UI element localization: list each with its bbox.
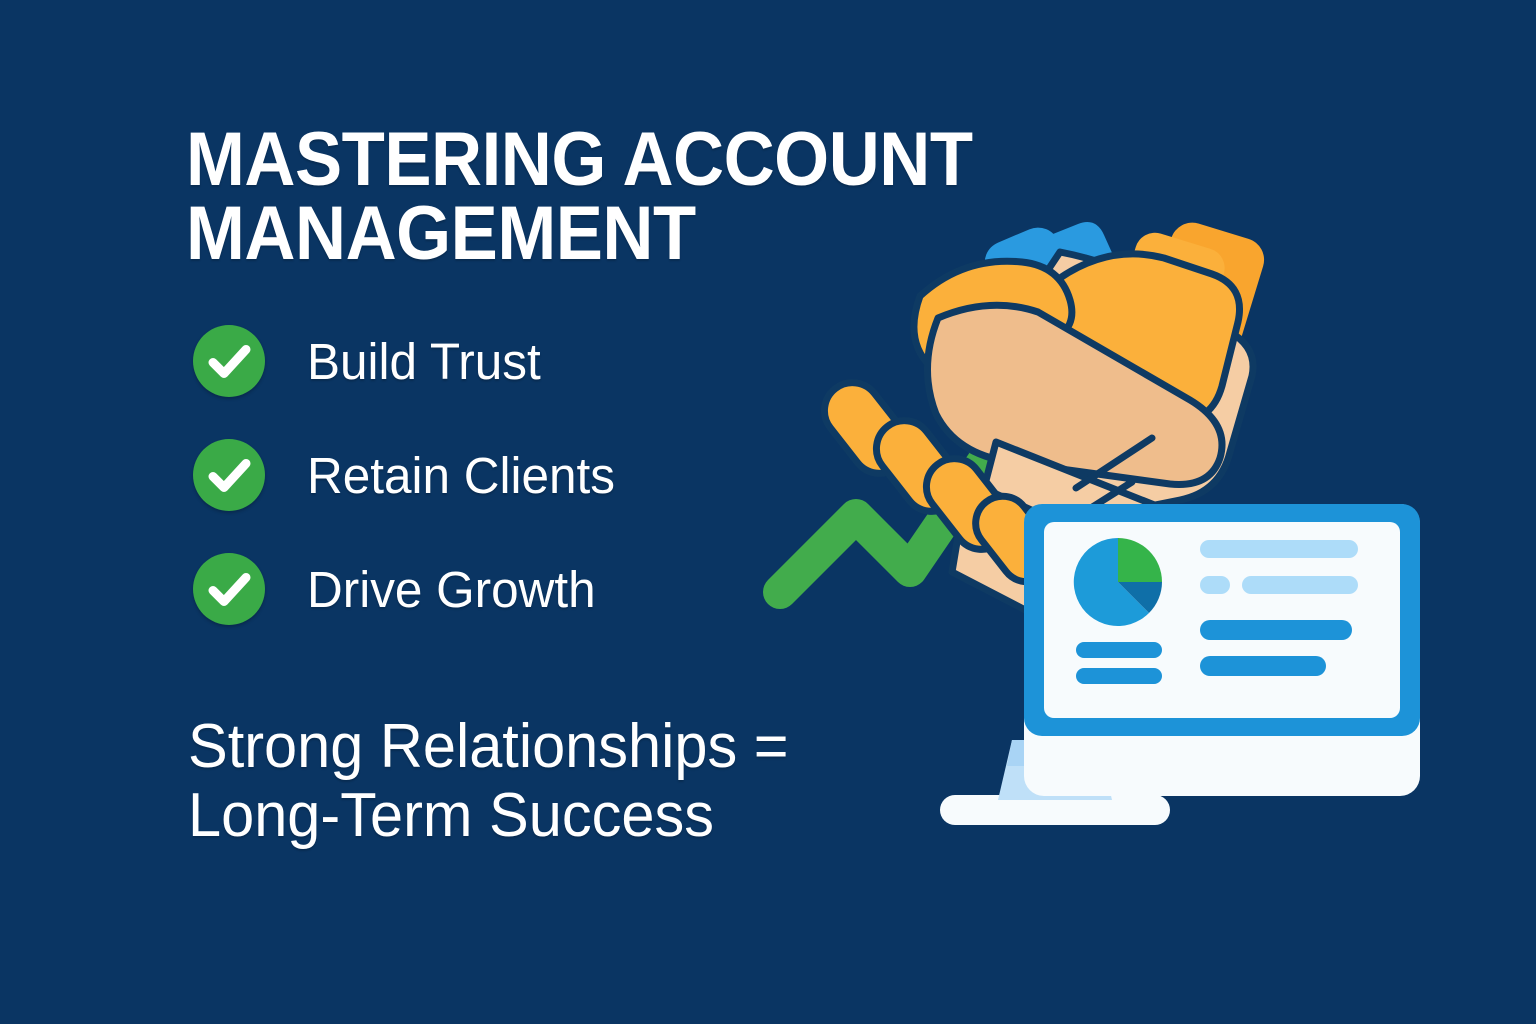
check-circle-icon — [193, 553, 265, 625]
screen-bar — [1242, 576, 1358, 594]
screen-bar — [1200, 576, 1230, 594]
screen-bar — [1076, 642, 1162, 658]
tagline: Strong Relationships = Long-Term Success — [188, 712, 789, 851]
checklist-label-drive-growth: Drive Growth — [307, 564, 596, 615]
checklist-label-build-trust: Build Trust — [307, 336, 541, 387]
pie-chart — [1074, 538, 1162, 626]
headline-line-1: MASTERING ACCOUNT — [186, 123, 930, 197]
tagline-line-1: Strong Relationships = — [188, 712, 789, 781]
screen-bar — [1200, 656, 1326, 676]
illustration-group — [760, 200, 1420, 880]
tagline-line-2: Long-Term Success — [188, 781, 789, 850]
screen-bar — [1200, 540, 1358, 558]
check-circle-icon — [193, 439, 265, 511]
checklist-label-retain-clients: Retain Clients — [307, 450, 615, 501]
screen-bar — [1076, 668, 1162, 684]
check-circle-icon — [193, 325, 265, 397]
poster-canvas: MASTERING ACCOUNT MANAGEMENT Build Trust… — [0, 0, 1536, 1024]
screen-bar — [1200, 620, 1352, 640]
